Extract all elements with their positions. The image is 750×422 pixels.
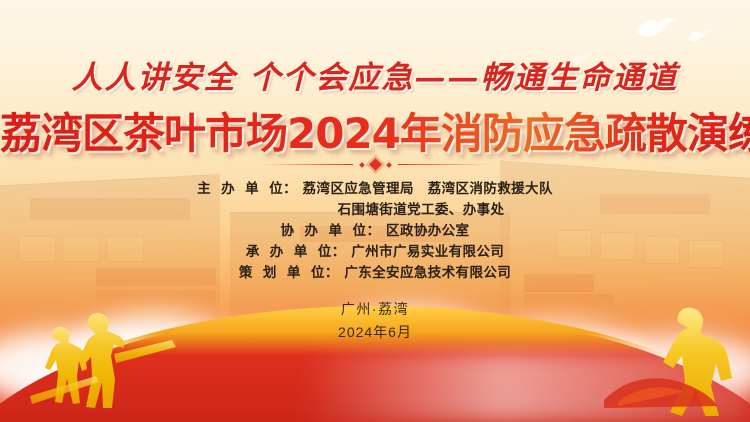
place-date-block: 广州·荔湾 2024年6月 bbox=[0, 298, 750, 344]
organizer-label: 协办单位 bbox=[281, 220, 367, 241]
organizer-value: 荔湾区应急管理局 荔湾区消防救援大队 bbox=[303, 178, 553, 199]
organizer-row: 石围塘街道党工委、办事处 bbox=[92, 199, 750, 220]
organizer-label: 主办单位 bbox=[197, 178, 283, 199]
divider-dot bbox=[386, 162, 392, 168]
organizer-value: 石围塘街道党工委、办事处 bbox=[338, 199, 505, 220]
ornamental-divider bbox=[0, 160, 750, 169]
organizer-value: 广州市广易实业有限公司 bbox=[351, 241, 504, 262]
poster-place: 广州·荔湾 bbox=[0, 298, 750, 321]
organizer-label: 承办单位 bbox=[246, 241, 332, 262]
divider-line-left bbox=[261, 164, 353, 166]
content-layer: 人人讲安全 个个会应急——畅通生命通道 荔湾区茶叶市场2024年消防应急疏散演练… bbox=[0, 0, 750, 422]
organizer-row: 主办单位 ： 荔湾区应急管理局 荔湾区消防救援大队 bbox=[0, 178, 750, 199]
organizer-value: 区政协办公室 bbox=[386, 220, 469, 241]
organizers-block: 主办单位 ： 荔湾区应急管理局 荔湾区消防救援大队 石围塘街道党工委、办事处 协… bbox=[0, 178, 750, 283]
organizer-label: 策划单位 bbox=[239, 262, 325, 283]
organizer-colon: ： bbox=[325, 262, 339, 283]
divider-line-right bbox=[398, 164, 490, 166]
organizer-colon: ： bbox=[332, 241, 346, 262]
organizer-colon: ： bbox=[283, 178, 297, 199]
poster-date: 2024年6月 bbox=[0, 321, 750, 344]
poster-canvas: 人人讲安全 个个会应急——畅通生命通道 荔湾区茶叶市场2024年消防应急疏散演练… bbox=[0, 0, 750, 422]
organizer-row: 协办单位 ： 区政协办公室 bbox=[0, 220, 750, 241]
divider-dot bbox=[359, 162, 365, 168]
poster-main-title: 荔湾区茶叶市场2024年消防应急疏散演练 bbox=[0, 100, 750, 161]
organizer-colon: ： bbox=[367, 220, 381, 241]
divider-diamond-icon bbox=[369, 158, 382, 171]
organizer-row: 承办单位 ： 广州市广易实业有限公司 bbox=[0, 241, 750, 262]
organizer-value: 广东全安应急技术有限公司 bbox=[344, 262, 511, 283]
organizer-row: 策划单位 ： 广东全安应急技术有限公司 bbox=[0, 262, 750, 283]
poster-slogan: 人人讲安全 个个会应急——畅通生命通道 bbox=[0, 52, 750, 97]
